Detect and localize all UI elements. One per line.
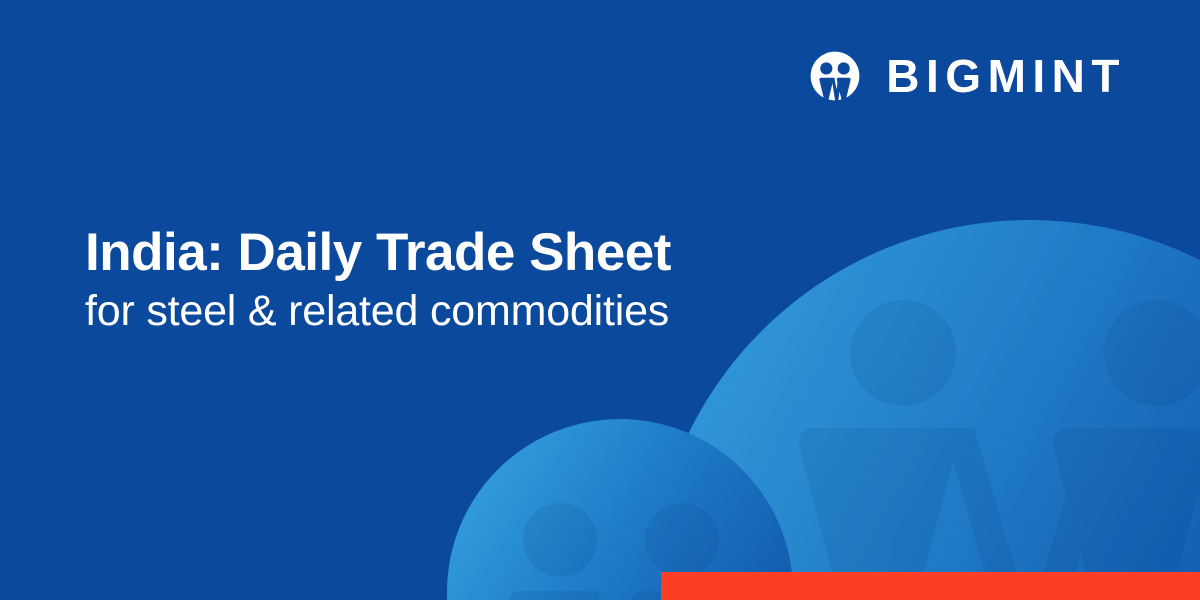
headline-block: India: Daily Trade Sheet for steel & rel… <box>85 224 671 335</box>
brand-wordmark: BIGMINT <box>886 53 1126 99</box>
page-title: India: Daily Trade Sheet <box>85 224 671 281</box>
page-subtitle: for steel & related commodities <box>85 287 671 335</box>
banner-root: BIGMINT India: Daily Trade Sheet for ste… <box>0 0 1200 600</box>
red-accent-bar <box>661 572 1200 600</box>
bigmint-logo-icon <box>806 47 864 105</box>
large-circle-logo-watermark <box>798 300 1200 600</box>
large-watermark-circle <box>650 220 1200 600</box>
brand-lockup: BIGMINT <box>806 47 1126 105</box>
